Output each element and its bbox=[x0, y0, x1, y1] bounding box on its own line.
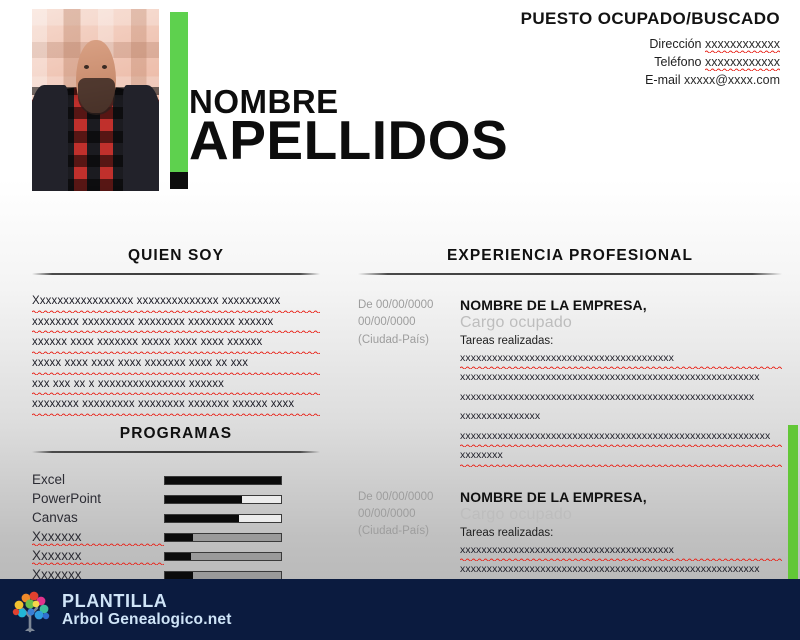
resume-template-page: NOMBRE APELLIDOS PUESTO OCUPADO/BUSCADO … bbox=[0, 0, 800, 640]
contact-value-direccion: xxxxxxxxxxxx bbox=[705, 37, 780, 53]
contact-label-direccion: Dirección bbox=[649, 37, 701, 51]
experience-date-from: De 00/00/0000 bbox=[358, 297, 454, 314]
experience-task-lines: xxxxxxxxxxxxxxxxxxxxxxxxxxxxxxxxxxxxxxxx… bbox=[460, 350, 782, 467]
program-level-bar bbox=[164, 533, 282, 542]
program-level-bar bbox=[164, 476, 282, 485]
profile-photo bbox=[32, 9, 159, 191]
photo-beard bbox=[78, 78, 115, 114]
program-name: Canvas bbox=[32, 510, 164, 527]
experience-task-line: xxxxxxxxxxxxxxxxxxxxxxxxxxxxxxxxxxxxxxxx… bbox=[460, 561, 782, 580]
experience-date-from: De 00/00/0000 bbox=[358, 489, 454, 506]
program-level-fill bbox=[165, 477, 281, 484]
experience-divider bbox=[358, 273, 782, 275]
experience-tasks-label: Tareas realizadas: bbox=[460, 527, 782, 539]
experience-company: NOMBRE DE LA EMPRESA, bbox=[460, 297, 782, 313]
programs-list: Excel PowerPoint Canvas Xxxxxxx bbox=[32, 471, 320, 585]
programs-title: PROGRAMAS bbox=[32, 425, 320, 443]
program-level-fill bbox=[165, 515, 239, 522]
about-line: xxx xxx xx x xxxxxxxxxxxxxxx xxxxxx bbox=[32, 375, 320, 396]
about-line: xxxxxxxx xxxxxxxxx xxxxxxxx xxxxxxxx xxx… bbox=[32, 313, 320, 334]
program-name: Excel bbox=[32, 472, 164, 489]
green-accent-bar-right bbox=[788, 425, 798, 579]
program-row: Xxxxxxx bbox=[32, 547, 320, 566]
experience-date-to: 00/00/0000 bbox=[358, 314, 454, 331]
program-level-fill bbox=[165, 534, 193, 541]
program-name: PowerPoint bbox=[32, 491, 164, 508]
experience-task-line: xxxxxxxxxxxxxxx bbox=[460, 408, 782, 427]
about-body: Xxxxxxxxxxxxxxxxx xxxxxxxxxxxxxx xxxxxxx… bbox=[32, 292, 320, 416]
contact-label-telefono: Teléfono bbox=[654, 55, 701, 69]
photo-vest-left bbox=[32, 85, 68, 191]
experience-task-line: xxxxxxxxxxxxxxxxxxxxxxxxxxxxxxxxxxxxxxxx… bbox=[460, 389, 782, 408]
footer-bar: PLANTILLA Arbol Genealogico.net bbox=[0, 579, 800, 640]
program-row: PowerPoint bbox=[32, 490, 320, 509]
role-title: PUESTO OCUPADO/BUSCADO bbox=[521, 9, 780, 29]
program-name: Xxxxxxx bbox=[32, 548, 164, 565]
program-row: Xxxxxxx bbox=[32, 528, 320, 547]
program-level-bar bbox=[164, 495, 282, 504]
contact-row-telefono: Teléfono xxxxxxxxxxxx bbox=[521, 54, 780, 72]
footer-text: PLANTILLA Arbol Genealogico.net bbox=[62, 591, 232, 629]
about-line: Xxxxxxxxxxxxxxxxx xxxxxxxxxxxxxx xxxxxxx… bbox=[32, 292, 320, 313]
contact-row-direccion: Dirección xxxxxxxxxxxx bbox=[521, 36, 780, 54]
experience-title: EXPERIENCIA PROFESIONAL bbox=[358, 247, 782, 265]
programs-divider bbox=[32, 451, 320, 453]
experience-task-line: xxxxxxxxxxxxxxxxxxxxxxxxxxxxxxxxxxxxxxxx bbox=[460, 542, 782, 561]
program-row: Excel bbox=[32, 471, 320, 490]
about-line: xxxxx xxxx xxxx xxxx xxxxxxx xxxx xx xxx bbox=[32, 354, 320, 375]
program-level-fill bbox=[165, 553, 191, 560]
about-section: QUIEN SOY Xxxxxxxxxxxxxxxxx xxxxxxxxxxxx… bbox=[32, 247, 320, 416]
tree-logo-icon bbox=[6, 585, 56, 635]
program-name: Xxxxxxx bbox=[32, 529, 164, 546]
contact-row-email: E-mail xxxxx@xxxx.com bbox=[521, 72, 780, 90]
green-accent-bar bbox=[170, 12, 188, 172]
experience-task-line: xxxxxxxxxxxxxxxxxxxxxxxxxxxxxxxxxxxxxxxx… bbox=[460, 369, 782, 388]
program-row: Canvas bbox=[32, 509, 320, 528]
footer-line-2: Arbol Genealogico.net bbox=[62, 611, 232, 628]
contact-label-email: E-mail bbox=[645, 73, 680, 87]
experience-header: EXPERIENCIA PROFESIONAL bbox=[358, 247, 782, 275]
program-level-bar bbox=[164, 514, 282, 523]
contact-list: Dirección xxxxxxxxxxxx Teléfono xxxxxxxx… bbox=[521, 36, 780, 89]
about-title: QUIEN SOY bbox=[32, 247, 320, 265]
black-accent-block bbox=[170, 172, 188, 189]
about-line: xxxxxx xxxx xxxxxxx xxxxx xxxx xxxx xxxx… bbox=[32, 333, 320, 354]
experience-role: Cargo ocupado bbox=[460, 506, 782, 524]
name-block: NOMBRE APELLIDOS bbox=[189, 86, 508, 166]
experience-task-line: xxxxxxxxxxxxxxxxxxxxxxxxxxxxxxxxxxxxxxxx… bbox=[460, 428, 782, 447]
photo-vest-right bbox=[123, 85, 159, 191]
experience-role: Cargo ocupado bbox=[460, 314, 782, 332]
experience-tasks-label: Tareas realizadas: bbox=[460, 335, 782, 347]
experience-body: NOMBRE DE LA EMPRESA, Cargo ocupado Tare… bbox=[454, 297, 782, 467]
program-level-bar bbox=[164, 552, 282, 561]
footer-line-1: PLANTILLA bbox=[62, 591, 232, 611]
contact-value-telefono: xxxxxxxxxxxx bbox=[705, 55, 780, 71]
experience-date-to: 00/00/0000 bbox=[358, 506, 454, 523]
program-level-fill bbox=[165, 572, 193, 579]
experience-dates: De 00/00/0000 00/00/0000 (Ciudad-País) bbox=[358, 297, 454, 467]
experience-company: NOMBRE DE LA EMPRESA, bbox=[460, 489, 782, 505]
header-contact-block: PUESTO OCUPADO/BUSCADO Dirección xxxxxxx… bbox=[521, 9, 780, 89]
last-name: APELLIDOS bbox=[189, 115, 508, 166]
programs-section: PROGRAMAS Excel PowerPoint Canvas bbox=[32, 425, 320, 585]
experience-task-line: xxxxxxxxxxxxxxxxxxxxxxxxxxxxxxxxxxxxxxxx bbox=[460, 350, 782, 369]
about-line: xxxxxxxx xxxxxxxxx xxxxxxxx xxxxxxx xxxx… bbox=[32, 395, 320, 416]
experience-task-line: xxxxxxxx bbox=[460, 447, 782, 466]
experience-entry: De 00/00/0000 00/00/0000 (Ciudad-País) N… bbox=[358, 297, 782, 467]
about-divider bbox=[32, 273, 320, 275]
experience-location: (Ciudad-País) bbox=[358, 332, 454, 349]
contact-value-email: xxxxx@xxxx.com bbox=[684, 73, 780, 89]
program-level-fill bbox=[165, 496, 242, 503]
experience-location: (Ciudad-País) bbox=[358, 523, 454, 540]
